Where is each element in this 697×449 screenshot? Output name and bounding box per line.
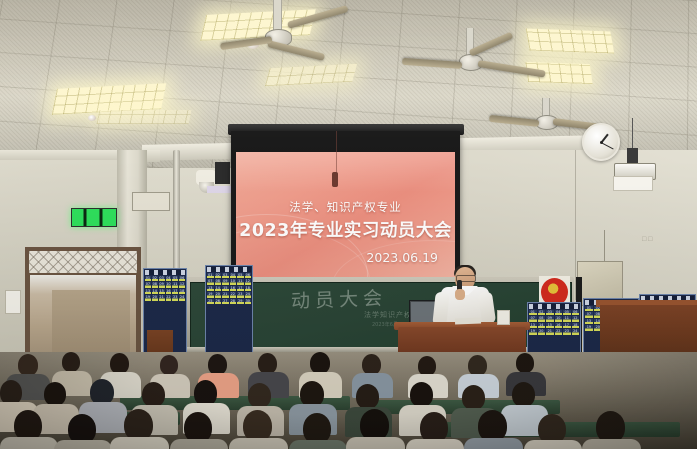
pocket-number: 21 <box>223 292 227 297</box>
phone-pocket: 09 <box>159 282 165 287</box>
audience-body <box>406 439 464 449</box>
phone-pocket: 15 <box>159 289 165 294</box>
audience-body <box>582 439 641 449</box>
audience-head <box>356 384 379 409</box>
audience-head <box>410 382 433 407</box>
pocket-number: 06 <box>180 276 184 281</box>
phone-pocket: 01 <box>529 310 537 315</box>
phone-pocket: 14 <box>538 323 546 328</box>
phone-pocket: 29 <box>237 299 244 304</box>
pocket-number: 01 <box>587 306 591 311</box>
phone-pocket: 22 <box>166 295 172 300</box>
ceiling-light-panel <box>97 110 192 124</box>
phone-pocket: 19 <box>529 329 537 334</box>
phone-pocket: 10 <box>230 279 237 284</box>
phone-pocket: 01 <box>145 276 151 281</box>
phone-pocket: 19 <box>207 292 214 297</box>
pocket-number: 19 <box>587 325 591 330</box>
phone-pocket: 13 <box>529 323 537 328</box>
phone-pocket: 17 <box>563 323 571 328</box>
pocket-number: 15 <box>159 289 163 294</box>
door-transom-window <box>29 251 137 273</box>
pocket-number: 23 <box>238 292 242 297</box>
pocket-number: 13 <box>208 286 212 291</box>
phone-pocket: 20 <box>215 292 222 297</box>
phone-pocket: 10 <box>555 316 563 321</box>
phone-pocket: 02 <box>215 273 222 278</box>
pocket-number: 03 <box>159 276 163 281</box>
phone-pocket: 23 <box>172 295 178 300</box>
pocket-number: 06 <box>246 273 250 278</box>
phone-pocket: 25 <box>207 299 214 304</box>
phone-pocket: 11 <box>172 282 178 287</box>
pocket-number: 03 <box>223 273 227 278</box>
hanging-object <box>332 172 338 187</box>
audience-body <box>0 437 58 449</box>
pocket-number: 17 <box>565 323 569 328</box>
phone-pocket: 04 <box>230 273 237 278</box>
phone-pocket: 14 <box>152 289 158 294</box>
phone-pocket: 04 <box>166 276 172 281</box>
pocket-number: 05 <box>238 273 242 278</box>
ceiling-light-panel <box>526 29 614 54</box>
phone-pocket: 19 <box>585 325 593 330</box>
phone-pocket: 21 <box>546 329 554 334</box>
phone-pocket: 27 <box>222 299 229 304</box>
phone-pocket: 02 <box>538 310 546 315</box>
pocket-number: 02 <box>216 273 220 278</box>
phone-pocket: 05 <box>563 310 571 315</box>
pocket-number: 27 <box>223 299 227 304</box>
phone-pocket: 13 <box>207 286 214 291</box>
pocket-number: 12 <box>246 279 250 284</box>
pocket-number: 01 <box>208 273 212 278</box>
audience-body <box>346 437 405 449</box>
pocket-number: 09 <box>223 279 227 284</box>
audience-body <box>54 440 112 449</box>
pocket-number: 19 <box>531 329 535 334</box>
rack-header <box>207 267 251 272</box>
phone-pocket: 03 <box>546 310 554 315</box>
wall-clock <box>582 123 620 161</box>
phone-pocket: 18 <box>179 289 185 294</box>
pocket-number: 10 <box>556 316 560 321</box>
projector-mount <box>627 148 638 164</box>
phone-pocket: 23 <box>237 292 244 297</box>
audience-head <box>462 385 485 410</box>
pocket-number: 24 <box>180 295 184 300</box>
pocket-number: 18 <box>246 286 250 291</box>
phone-pocket: 30 <box>245 299 252 304</box>
phone-pocket: 24 <box>179 295 185 300</box>
phone-pocket: 09 <box>546 316 554 321</box>
phone-pocket: 22 <box>230 292 237 297</box>
pocket-number: 07 <box>587 312 591 317</box>
audience-head <box>248 383 271 408</box>
audience-head <box>310 352 330 374</box>
phone-pocket: 11 <box>563 316 571 321</box>
pocket-number: 09 <box>159 282 163 287</box>
pocket-number: 05 <box>565 310 569 315</box>
phone-pocket: 28 <box>230 299 237 304</box>
phone-pocket: 13 <box>585 319 593 324</box>
pocket-number: 12 <box>573 316 577 321</box>
pocket-number: 19 <box>208 292 212 297</box>
pocket-number: 08 <box>153 282 157 287</box>
pocket-number: 20 <box>153 295 157 300</box>
audience-head <box>516 353 534 373</box>
pocket-number: 14 <box>216 286 220 291</box>
slide-date: 2023.06.19 <box>366 250 438 265</box>
pocket-number: 07 <box>531 316 535 321</box>
hanging-cord <box>336 131 337 175</box>
slide-title: 2023年专业实习动员大会 <box>239 217 452 242</box>
antenna-rod <box>604 230 605 262</box>
pocket-number: 18 <box>180 289 184 294</box>
phone-pocket: 12 <box>245 279 252 284</box>
pocket-number: 15 <box>223 286 227 291</box>
presentation-slide: 法学、知识产权专业 2023年专业实习动员大会 2023.06.19 <box>236 152 455 277</box>
pocket-number: 01 <box>531 310 535 315</box>
pocket-number: 17 <box>238 286 242 291</box>
phone-pocket: 24 <box>245 292 252 297</box>
pocket-number: 11 <box>173 282 177 287</box>
phone-pocket: 15 <box>546 323 554 328</box>
pocket-number: 14 <box>153 289 157 294</box>
phone-pocket: 20 <box>538 329 546 334</box>
pocket-number: 10 <box>231 279 235 284</box>
phone-pocket: 11 <box>237 279 244 284</box>
pocket-number: 04 <box>231 273 235 278</box>
phone-pocket: 22 <box>555 329 563 334</box>
pocket-number: 13 <box>587 319 591 324</box>
pocket-number: 15 <box>548 323 552 328</box>
audience-head <box>62 352 80 372</box>
pocket-number: 20 <box>539 329 543 334</box>
phone-pocket: 09 <box>222 279 229 284</box>
pocket-number: 06 <box>573 310 577 315</box>
phone-pocket: 14 <box>215 286 222 291</box>
phone-pocket: 18 <box>245 286 252 291</box>
pocket-number: 22 <box>166 295 170 300</box>
pocket-number: 07 <box>208 279 212 284</box>
podium-papers <box>455 318 481 325</box>
audience-head <box>44 382 66 406</box>
phone-pocket: 02 <box>152 276 158 281</box>
phone-pocket: 20 <box>152 295 158 300</box>
phone-pocket: 07 <box>529 316 537 321</box>
pocket-number: 02 <box>539 310 543 315</box>
phone-pocket: 08 <box>538 316 546 321</box>
pocket-number: 26 <box>216 299 220 304</box>
pocket-number: 08 <box>216 279 220 284</box>
audience-head <box>208 354 227 375</box>
audience-head <box>160 355 178 375</box>
pocket-number: 28 <box>231 299 235 304</box>
wall-speaker <box>215 162 230 184</box>
phone-pocket: 15 <box>222 286 229 291</box>
phone-pocket: 18 <box>572 323 580 328</box>
phone-pocket: 06 <box>245 273 252 278</box>
pocket-number: 08 <box>539 316 543 321</box>
phone-pocket: 07 <box>207 279 214 284</box>
pocket-number: 24 <box>573 329 577 334</box>
pocket-number: 01 <box>146 276 150 281</box>
audience-head <box>142 382 165 407</box>
rack-header <box>529 304 579 309</box>
phone-pocket: 01 <box>585 306 593 311</box>
phone-pocket: 08 <box>152 282 158 287</box>
audience-head <box>18 354 38 376</box>
pocket-number: 21 <box>548 329 552 334</box>
pocket-number: 23 <box>173 295 177 300</box>
pocket-number: 20 <box>216 292 220 297</box>
pocket-number: 05 <box>173 276 177 281</box>
pocket-number: 14 <box>539 323 543 328</box>
phone-pocket: 13 <box>145 289 151 294</box>
audience-body <box>170 439 228 449</box>
wall-notice <box>5 290 21 314</box>
pocket-number: 02 <box>153 276 157 281</box>
audience-head <box>258 353 277 374</box>
speaker-hand <box>455 289 465 300</box>
audience-head <box>362 354 381 375</box>
pocket-number: 19 <box>146 295 150 300</box>
pocket-number: 11 <box>238 279 242 284</box>
phone-pocket: 08 <box>215 279 222 284</box>
phone-pocket: 04 <box>555 310 563 315</box>
pocket-number: 13 <box>146 289 150 294</box>
pocket-number: 07 <box>146 282 150 287</box>
phone-pocket: 26 <box>215 299 222 304</box>
phone-pocket: 21 <box>222 292 229 297</box>
lecture-hall-photo: □ □ 法学、知识产权专业 2023年专业实习动员大会 2023.06.19 动… <box>0 0 697 449</box>
pocket-number: 21 <box>159 295 163 300</box>
phone-pocket: 12 <box>572 316 580 321</box>
audience-head <box>468 355 487 376</box>
pocket-number: 04 <box>166 276 170 281</box>
slide-gloss <box>236 152 455 192</box>
pocket-number: 24 <box>246 292 250 297</box>
pocket-number: 16 <box>166 289 170 294</box>
phone-pocket: 21 <box>159 295 165 300</box>
phone-pocket: 07 <box>585 312 593 317</box>
pocket-number: 18 <box>573 323 577 328</box>
phone-pocket: 03 <box>159 276 165 281</box>
audience-body <box>110 437 169 449</box>
phone-pocket: 06 <box>179 276 185 281</box>
phone-pocket: 17 <box>237 286 244 291</box>
phone-pocket: 16 <box>166 289 172 294</box>
pocket-number: 16 <box>231 286 235 291</box>
pocket-number: 10 <box>166 282 170 287</box>
smoke-detector <box>88 115 96 121</box>
pocket-number: 25 <box>208 299 212 304</box>
pocket-number: 12 <box>180 282 184 287</box>
paper-cup <box>497 310 510 325</box>
pocket-number: 03 <box>548 310 552 315</box>
phone-pocket: 01 <box>207 273 214 278</box>
phone-pocket: 10 <box>166 282 172 287</box>
phone-pocket: 05 <box>172 276 178 281</box>
pocket-number: 23 <box>565 329 569 334</box>
rack-header <box>145 270 185 275</box>
phone-pocket: 03 <box>222 273 229 278</box>
projector-cable <box>632 118 633 150</box>
phone-pocket: 19 <box>145 295 151 300</box>
pocket-number: 11 <box>565 316 569 321</box>
audience-head <box>418 356 436 376</box>
audience-body <box>524 440 582 449</box>
audience-head <box>512 382 535 407</box>
pocket-number: 17 <box>173 289 177 294</box>
audience-seating <box>0 352 697 449</box>
audience-body <box>464 438 523 449</box>
audience-body <box>289 440 347 449</box>
phone-pocket: 23 <box>563 329 571 334</box>
phone-pocket: 24 <box>572 329 580 334</box>
wall-mounted-box <box>132 192 170 211</box>
phone-pocket: 16 <box>230 286 237 291</box>
phone-pocket: 07 <box>145 282 151 287</box>
phone-pocket: 05 <box>237 273 244 278</box>
pocket-number: 16 <box>556 323 560 328</box>
audience-body <box>229 438 288 449</box>
pocket-number: 13 <box>531 323 535 328</box>
emergency-exit-sign <box>71 208 117 227</box>
pocket-number: 22 <box>231 292 235 297</box>
wall-notice <box>613 176 653 191</box>
slide-subtitle: 法学、知识产权专业 <box>289 199 402 215</box>
phone-pocket: 12 <box>179 282 185 287</box>
phone-pocket: 16 <box>555 323 563 328</box>
pocket-number: 09 <box>548 316 552 321</box>
wall-marking: □ □ <box>642 236 652 243</box>
phone-pocket: 17 <box>172 289 178 294</box>
pocket-number: 29 <box>238 299 242 304</box>
audience-head <box>110 353 129 374</box>
pocket-number: 04 <box>556 310 560 315</box>
pocket-number: 22 <box>556 329 560 334</box>
phone-pocket: 06 <box>572 310 580 315</box>
pocket-number: 30 <box>246 299 250 304</box>
